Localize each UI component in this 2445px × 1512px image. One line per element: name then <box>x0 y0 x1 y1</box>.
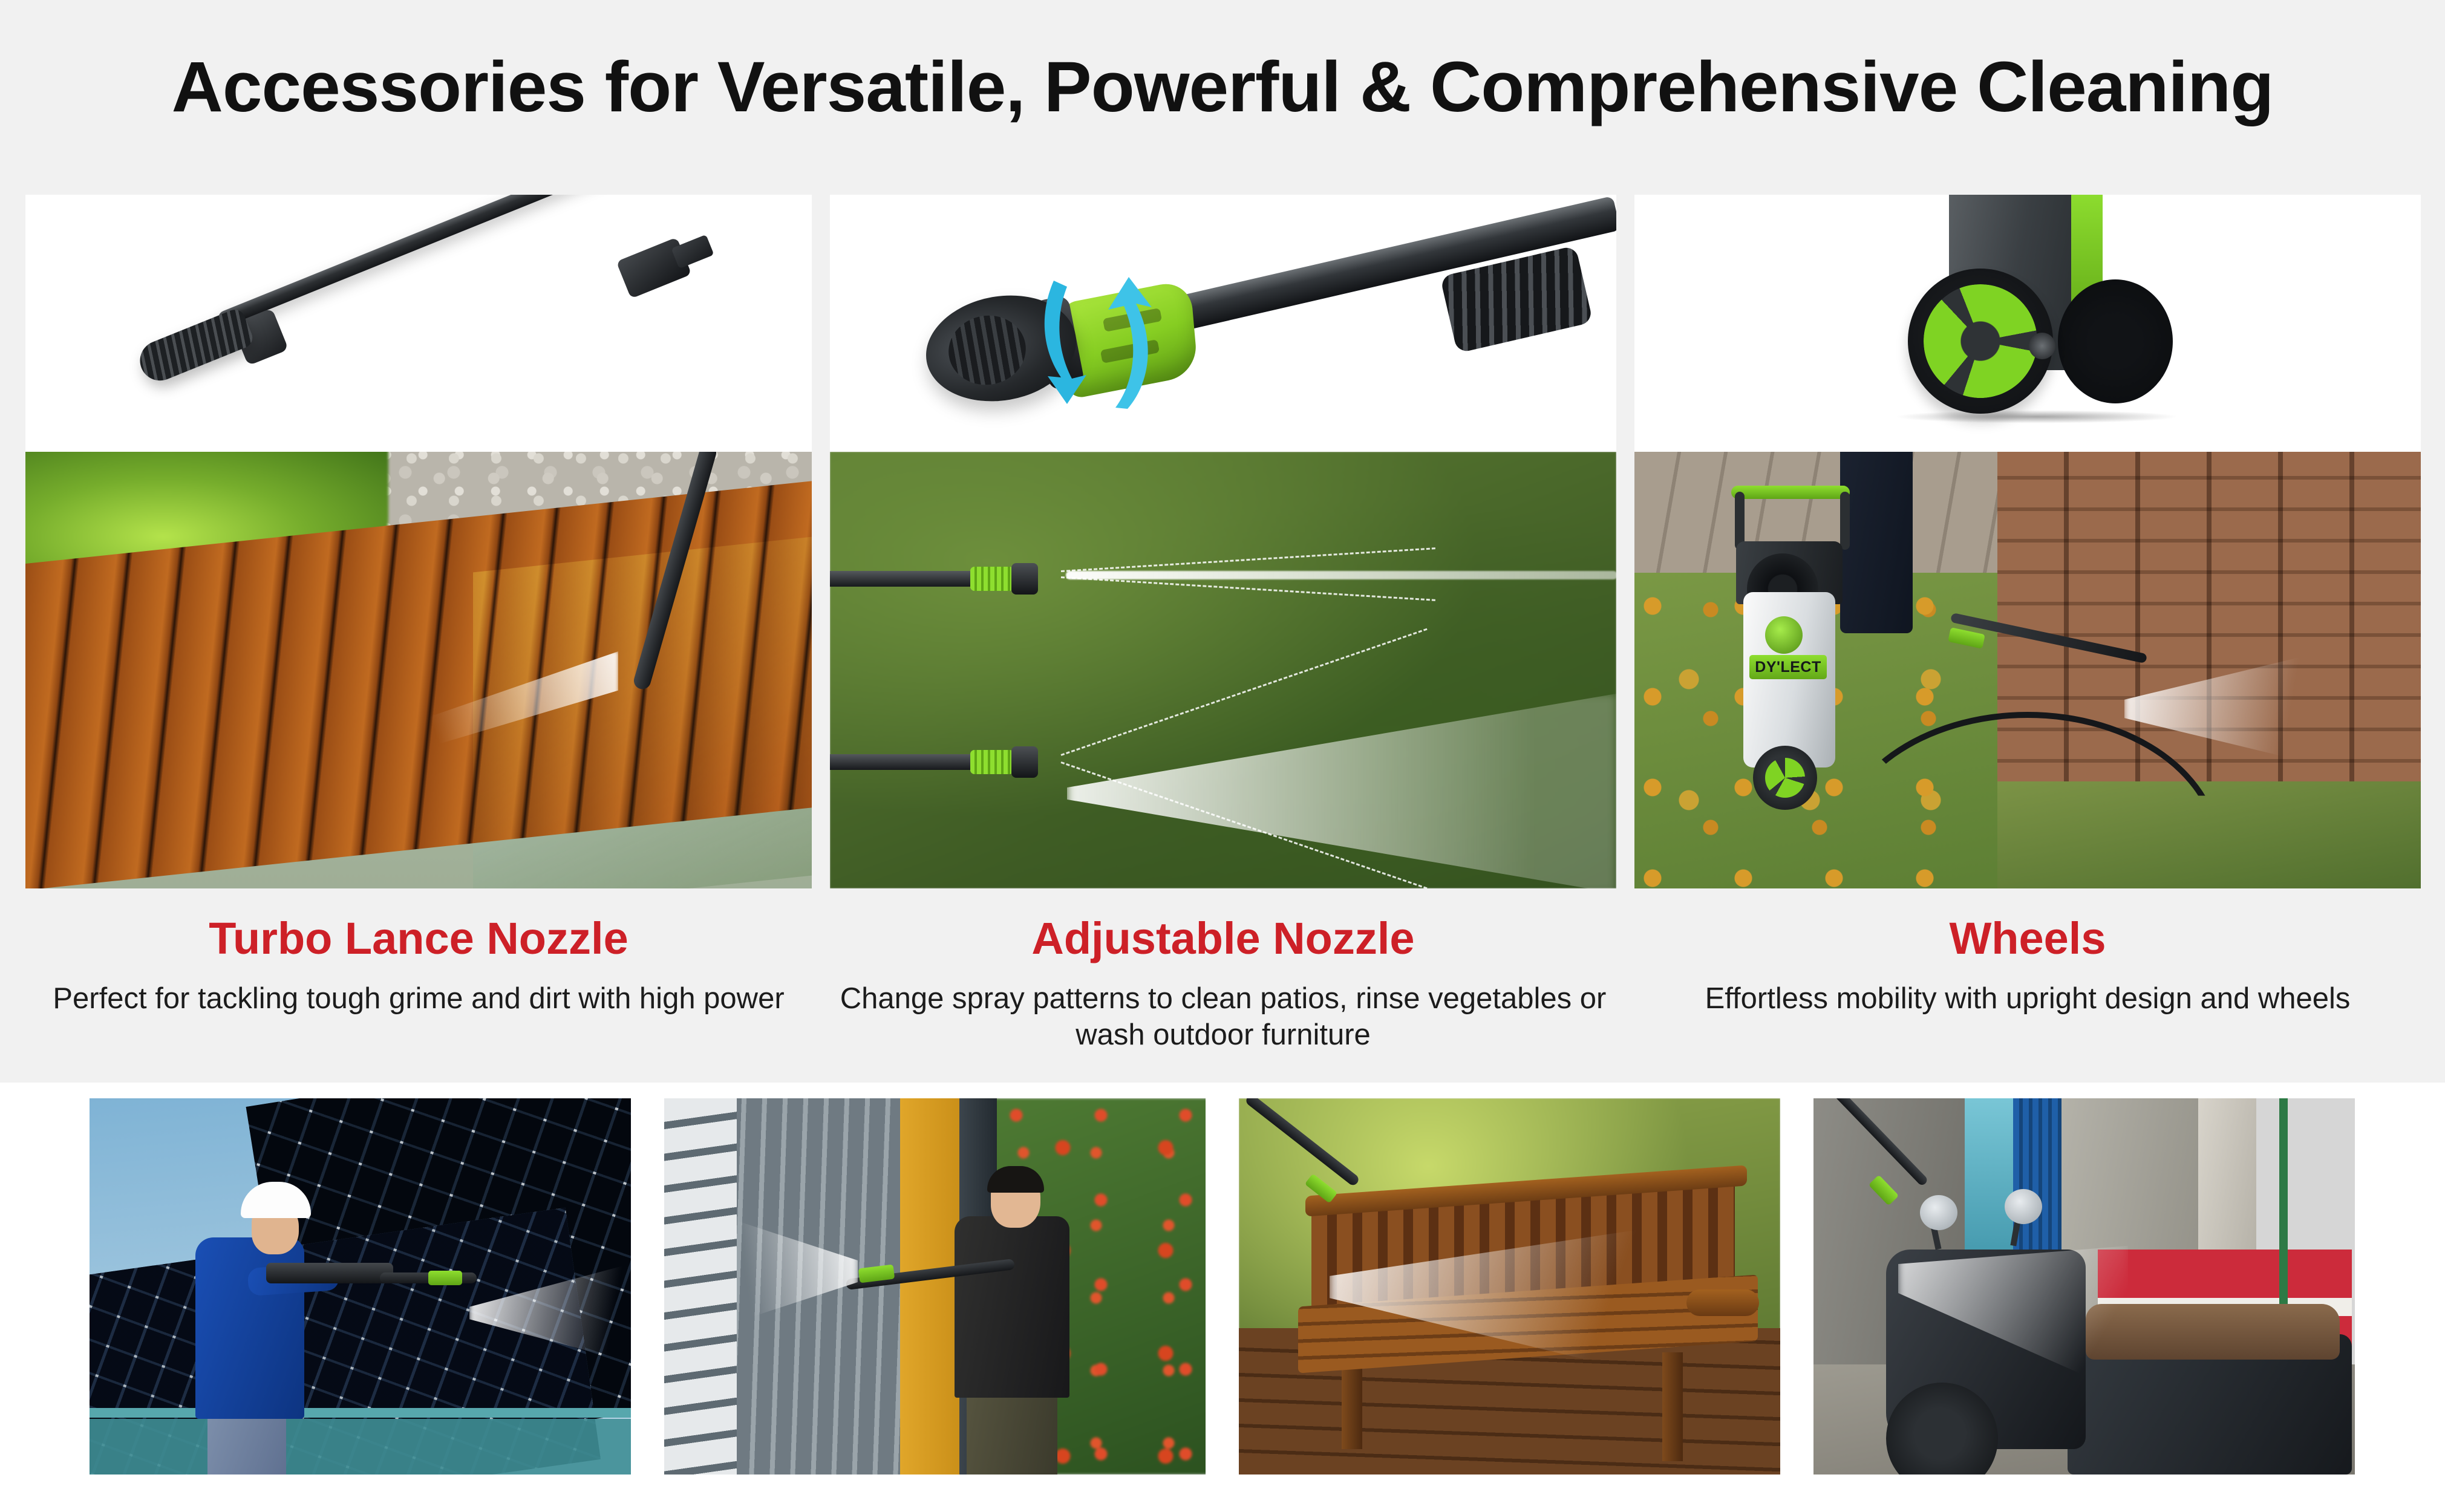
brand-badge: DY'LECT <box>1749 655 1827 679</box>
feature-description: Effortless mobility with upright design … <box>1634 980 2421 1017</box>
gallery-row <box>90 1098 2355 1475</box>
feature-band: Turbo Lance Nozzle Perfect for tackling … <box>0 174 2445 1083</box>
handle-post-right <box>1840 492 1850 550</box>
green-collar-bottom <box>970 750 1014 774</box>
product-image-turbo-lance-nozzle <box>25 195 812 452</box>
caption-adjustable-nozzle: Adjustable Nozzle Change spray patterns … <box>830 888 1616 1054</box>
wheel-shadow <box>1895 410 2179 423</box>
lifestyle-image-deck-cleaning <box>25 452 812 888</box>
feature-column-wheels[interactable]: DY'LECT Wheels Effortless mobility with … <box>1634 195 2421 1054</box>
platform-railing <box>90 1419 631 1475</box>
wheel-axle <box>2029 333 2055 359</box>
feature-grid: Turbo Lance Nozzle Perfect for tackling … <box>25 195 2423 1054</box>
feature-heading: Wheels <box>1634 915 2421 962</box>
feature-heading: Turbo Lance Nozzle <box>25 915 812 962</box>
page-title: Accessories for Versatile, Powerful & Co… <box>0 0 2445 123</box>
green-collar-top <box>970 567 1014 591</box>
feature-column-turbo-lance-nozzle[interactable]: Turbo Lance Nozzle Perfect for tackling … <box>25 195 812 1054</box>
scooter-mirror <box>1920 1195 1957 1230</box>
operator-legs <box>1840 452 1913 633</box>
wheel-green-spokes <box>1924 284 2037 398</box>
pressure-knob <box>1765 616 1803 654</box>
caption-turbo-lance-nozzle: Turbo Lance Nozzle Perfect for tackling … <box>25 888 812 1017</box>
railing-bar <box>90 1408 631 1418</box>
man-dark-jacket <box>955 1216 1069 1398</box>
machine-handle <box>1731 486 1850 499</box>
turbo-lance-illustration <box>25 195 812 452</box>
lance-green-collar <box>428 1271 462 1285</box>
gallery-item-wall-siding-cleaning[interactable] <box>664 1098 1206 1475</box>
nozzle-cap-bottom <box>1011 746 1038 778</box>
feature-heading: Adjustable Nozzle <box>830 915 1616 962</box>
spray-gun <box>266 1263 393 1283</box>
bench-leg <box>1662 1352 1683 1461</box>
gallery-item-garden-bench-cleaning[interactable] <box>1239 1098 1780 1475</box>
caption-wheels: Wheels Effortless mobility with upright … <box>1634 888 2421 1017</box>
bench-armrest <box>1686 1289 1759 1316</box>
feature-description: Change spray patterns to clean patios, r… <box>830 980 1616 1054</box>
narrow-jet-stream <box>1066 571 1616 579</box>
gallery-item-solar-panel-cleaning[interactable] <box>90 1098 631 1475</box>
machine-wheel-green-hub <box>1765 758 1805 798</box>
nozzle-cap-top <box>1011 563 1038 595</box>
product-image-wheels <box>1634 195 2421 452</box>
rear-wheel <box>2058 279 2173 403</box>
lance-shaft <box>216 195 615 328</box>
feature-column-adjustable-nozzle[interactable]: Adjustable Nozzle Change spray patterns … <box>830 195 1616 1054</box>
turbo-head-icon <box>134 307 256 386</box>
gallery-item-scooter-cleaning[interactable] <box>1813 1098 2355 1475</box>
rotation-arrow-up-icon <box>1091 272 1170 417</box>
use-case-gallery <box>0 1083 2445 1512</box>
lance-tip <box>671 235 714 269</box>
lifestyle-image-machine-on-lawn: DY'LECT <box>1634 452 2421 888</box>
scooter-mirror <box>2005 1189 2042 1224</box>
lifestyle-image-spray-patterns <box>830 452 1616 888</box>
feature-description: Perfect for tackling tough grime and dir… <box>25 980 812 1017</box>
red-wall-band <box>2098 1250 2352 1298</box>
product-image-adjustable-nozzle <box>830 195 1616 452</box>
adjustable-nozzle-illustration <box>830 195 1616 452</box>
